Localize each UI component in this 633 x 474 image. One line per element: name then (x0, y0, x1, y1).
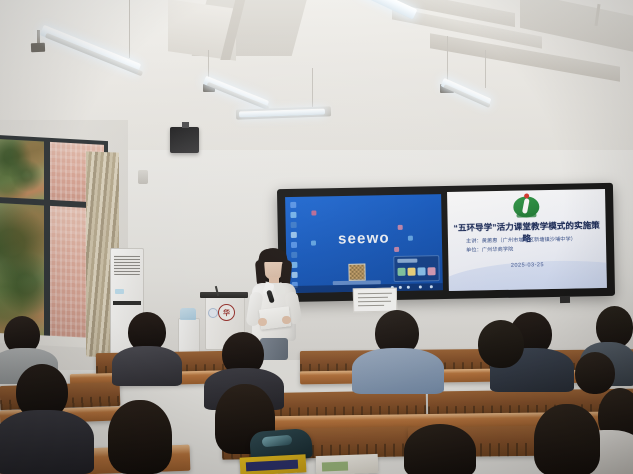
light-wire (129, 0, 130, 58)
audience-head (478, 320, 524, 368)
light-wire (485, 50, 486, 88)
seewo-smartboard-screen[interactable]: seewo (285, 194, 443, 293)
audience-shoulders (352, 348, 444, 394)
podium-top-surface (200, 292, 248, 298)
desktop-shortcut-icon[interactable] (311, 210, 316, 215)
app-icon[interactable] (290, 202, 296, 208)
ac-vent-grill (114, 255, 140, 275)
panel-tile-icon[interactable] (417, 267, 425, 275)
light-wire (447, 36, 448, 84)
taskbar-icon[interactable] (419, 285, 422, 288)
panel-tile-icon[interactable] (397, 268, 405, 276)
dual-display-screens[interactable]: seewo (277, 183, 615, 302)
audience-head (575, 352, 615, 394)
taskbar-icon[interactable] (430, 285, 433, 288)
water-dispenser (178, 318, 200, 356)
panel-tile-icon[interactable] (427, 267, 435, 275)
taskbar-icon[interactable] (407, 286, 410, 289)
paper-green-sheet (322, 462, 348, 472)
notice-text-line (358, 301, 391, 303)
light-hanger-cap (31, 43, 45, 52)
display-mount-bracket (560, 296, 570, 303)
wall-fixture (138, 170, 148, 184)
wall-notice-sign (353, 288, 397, 313)
taskbar-icon[interactable] (399, 286, 402, 289)
classroom-photo: seewo (0, 0, 633, 474)
ac-indicator (115, 289, 124, 294)
notice-text-line (358, 305, 384, 306)
seewo-brand-label: seewo (338, 230, 390, 248)
presentation-slide-screen[interactable]: “五环导学”活力课堂教学模式的实施策略 主讲：黄蕙惠（广州市增城区新塘镇沙埔中学… (447, 189, 607, 291)
desktop-shortcut-icon[interactable] (394, 247, 399, 252)
presenter-hand-right (282, 316, 291, 324)
logo-accent-dot (524, 193, 529, 198)
audience-shoulders (112, 346, 182, 386)
wall-speaker-icon (170, 127, 199, 153)
desktop-shortcut-icon[interactable] (398, 225, 403, 230)
app-icon[interactable] (291, 222, 297, 228)
ceiling-light-fixture (207, 82, 270, 110)
ac-display-band (113, 301, 141, 305)
panel-title-bar (397, 259, 417, 263)
panel-tile-icon[interactable] (407, 268, 415, 276)
school-emblem-logo-icon (513, 193, 539, 217)
audience-head (108, 400, 172, 474)
presenter-fringe (259, 249, 287, 262)
water-dispenser-bottle (180, 308, 196, 320)
slide-subtitle-institution: 单位：广州华商学院 (466, 246, 513, 254)
podium-emblem-icon: 华 (218, 304, 235, 321)
logo-base-shape (516, 213, 536, 217)
desktop-shortcut-icon[interactable] (311, 240, 316, 245)
presenter-hand-left (258, 318, 267, 326)
app-icon[interactable] (291, 232, 297, 238)
speaker-mount (182, 122, 189, 128)
window-pane-trees (0, 139, 44, 199)
qr-code-icon[interactable] (348, 264, 365, 281)
audience-head (534, 404, 600, 474)
notice-text-line (358, 293, 392, 295)
light-wire (312, 68, 313, 110)
app-icon[interactable] (290, 212, 296, 218)
presenter-trousers (260, 338, 288, 360)
audience-head (404, 424, 476, 474)
podium-emblem-glyph: 华 (223, 308, 230, 318)
seewo-quick-tools-panel[interactable] (393, 255, 439, 282)
desktop-shortcut-icon[interactable] (408, 236, 413, 241)
podium-side-logo-icon (208, 308, 218, 318)
audience-shoulders (0, 410, 94, 474)
notice-text-line (358, 297, 388, 299)
